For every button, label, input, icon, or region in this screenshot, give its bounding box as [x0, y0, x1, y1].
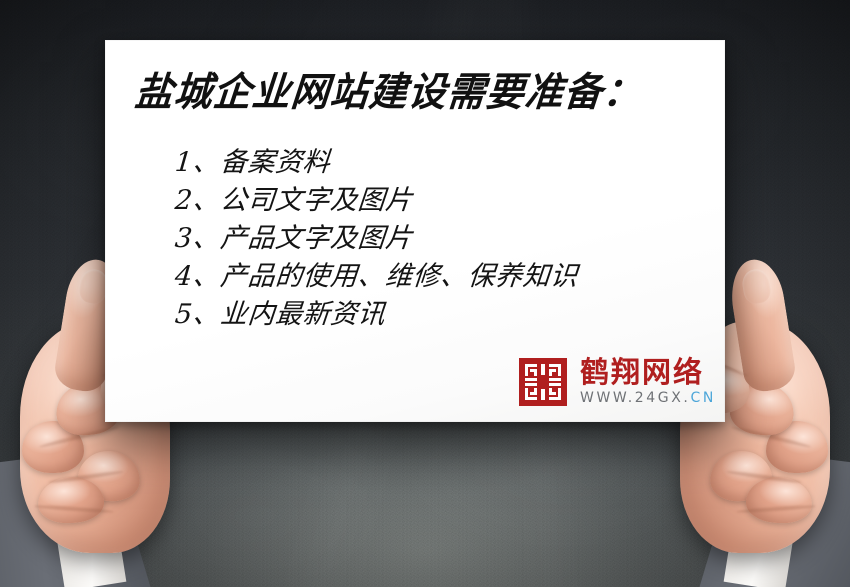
brand-url-main: WWW.24GX. [580, 390, 690, 407]
logo-text-block: 鹤翔网络 WWW.24GX.CN [580, 357, 716, 407]
brand-logo: 鹤翔网络 WWW.24GX.CN [519, 357, 716, 407]
card-title: 盐城企业网站建设需要准备： [133, 69, 707, 116]
checklist-item: 5、业内最新资讯 [173, 296, 706, 334]
brand-name: 鹤翔网络 [580, 357, 716, 388]
preparation-checklist: 1、备案资料 2、公司文字及图片 3、产品文字及图片 4、产品的使用、维修、保养… [175, 144, 705, 334]
white-card: 盐城企业网站建设需要准备： 1、备案资料 2、公司文字及图片 3、产品文字及图片… [105, 40, 725, 422]
brand-url-tld: CN [690, 390, 715, 407]
poster-image: 盐城企业网站建设需要准备： 1、备案资料 2、公司文字及图片 3、产品文字及图片… [0, 0, 850, 587]
right-thumbnail [740, 267, 772, 305]
chinese-meander-square-icon [519, 358, 567, 406]
brand-url: WWW.24GX.CN [580, 390, 716, 407]
checklist-item: 4、产品的使用、维修、保养知识 [173, 258, 706, 296]
checklist-item: 3、产品文字及图片 [173, 220, 706, 258]
checklist-item: 2、公司文字及图片 [173, 182, 706, 220]
checklist-item: 1、备案资料 [173, 144, 706, 182]
